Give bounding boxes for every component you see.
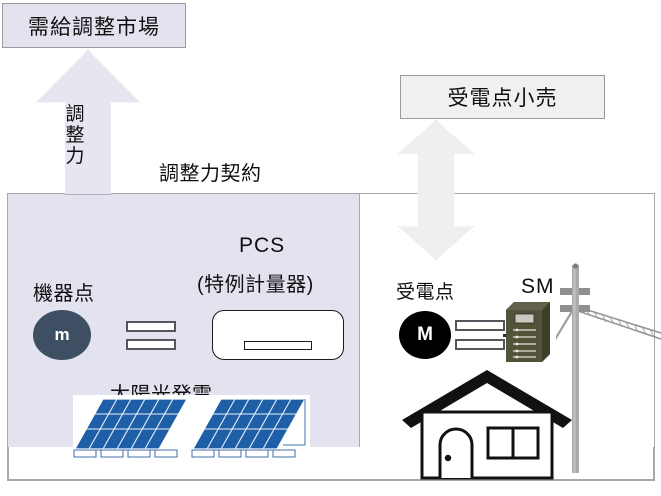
utility-pole-icon xyxy=(556,263,661,485)
terminal-bar-bottom xyxy=(455,339,505,350)
pcs-sublabel: (特例計量器) xyxy=(197,268,314,297)
adjustment-power-arrow-label: 調整力 xyxy=(63,104,87,167)
pcs-vent-slot xyxy=(244,341,312,350)
pcs-label: PCS xyxy=(239,234,285,258)
terminal-bar-bottom xyxy=(126,339,176,350)
device-meter-circle: m xyxy=(33,310,91,360)
pcs-inverter-icon xyxy=(212,310,344,360)
region-vertical-divider xyxy=(359,194,360,480)
house-icon xyxy=(400,362,575,487)
retail-box[interactable]: 受電点小売 xyxy=(400,75,605,119)
terminal-block-right-icon xyxy=(455,320,505,352)
device-point-label: 機器点 xyxy=(33,277,95,306)
terminal-block-left-icon xyxy=(126,321,176,351)
terminal-bar-top xyxy=(126,321,176,332)
receiving-meter-circle: M xyxy=(399,311,451,359)
smart-meter-label: SM xyxy=(521,275,555,299)
adjustment-power-contract-label: 調整力契約 xyxy=(159,157,262,186)
receiving-point-label: 受電点 xyxy=(396,277,455,304)
adjustment-power-up-arrow xyxy=(36,50,140,195)
smart-meter-cabinet-icon xyxy=(506,302,551,364)
diagram-canvas: 需給調整市場 調整力 調整力契約 受電点小売 機器点 m PCS (特例計量器)… xyxy=(0,0,661,496)
market-box[interactable]: 需給調整市場 xyxy=(2,3,186,48)
solar-panel-array-icon xyxy=(73,395,310,467)
terminal-bar-top xyxy=(455,320,505,331)
